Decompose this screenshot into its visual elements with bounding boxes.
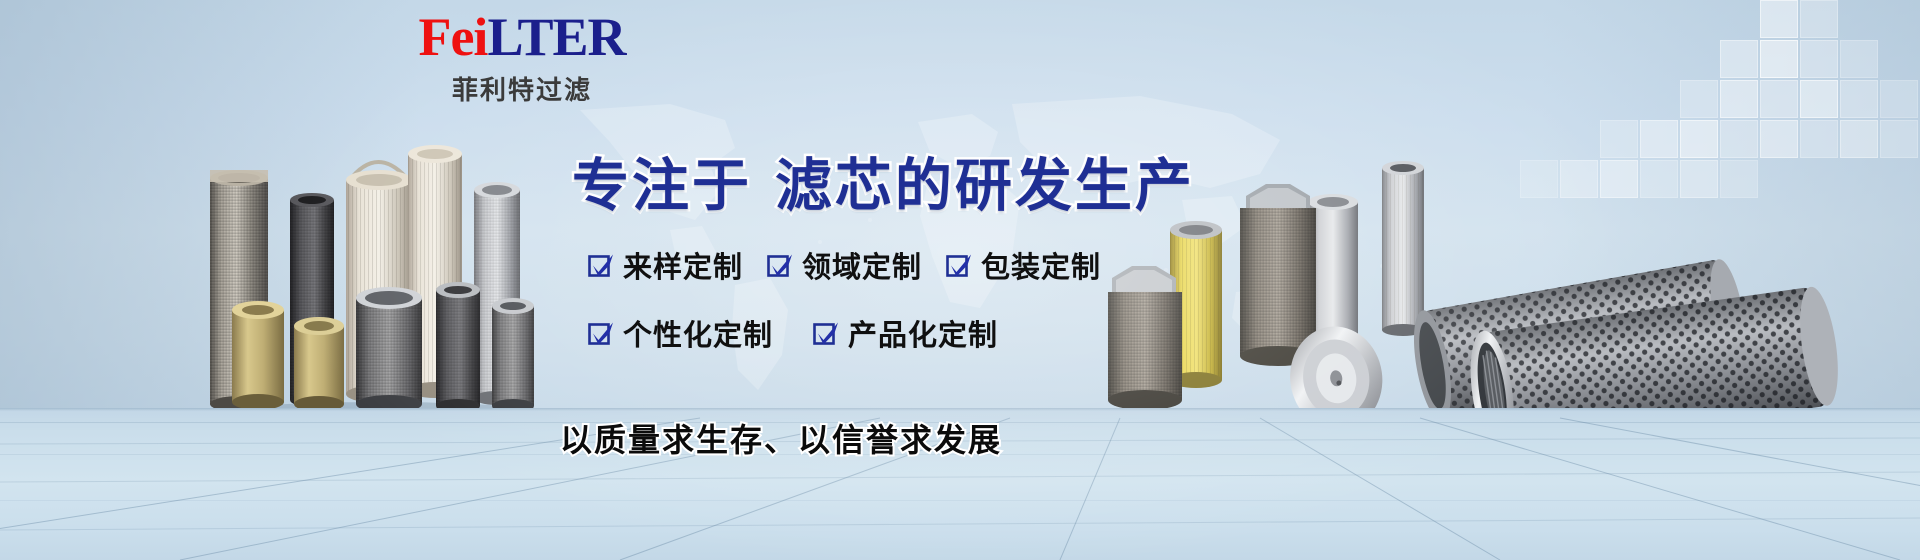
feature-label: 包装定制 xyxy=(981,244,1101,286)
feature-item[interactable]: 领域定制 xyxy=(767,244,922,286)
feature-list: 来样定制 领域定制 包装定制 xyxy=(588,244,1228,380)
feature-row-1: 来样定制 领域定制 包装定制 xyxy=(588,244,1228,286)
logo-word-blue: LTER xyxy=(487,7,625,67)
logo-wordmark: FeiLTER xyxy=(392,8,652,66)
checkbox-checked-icon xyxy=(588,320,614,346)
promo-banner: FeiLTER 菲利特过滤 专注于 滤芯的研发生产 来样定制 xyxy=(0,0,1920,560)
brand-logo[interactable]: FeiLTER 菲利特过滤 xyxy=(392,8,652,107)
feature-label: 产品化定制 xyxy=(848,312,998,354)
checkbox-checked-icon xyxy=(946,252,972,278)
feature-label: 来样定制 xyxy=(623,244,743,286)
checkbox-checked-icon xyxy=(767,252,793,278)
headline-text: 专注于 滤芯的研发生产 xyxy=(572,140,1195,222)
feature-label: 个性化定制 xyxy=(623,312,773,354)
feature-item[interactable]: 个性化定制 xyxy=(588,312,773,354)
tagline-text: 以质量求生存、以信誉求发展 xyxy=(560,415,1002,461)
feature-item[interactable]: 产品化定制 xyxy=(813,312,998,354)
checkbox-checked-icon xyxy=(813,320,839,346)
checkbox-checked-icon xyxy=(588,252,614,278)
feature-row-2: 个性化定制 产品化定制 xyxy=(588,312,1228,354)
logo-subtitle: 菲利特过滤 xyxy=(392,70,652,107)
logo-word-red: Fei xyxy=(418,7,487,67)
feature-label: 领域定制 xyxy=(802,244,922,286)
feature-item[interactable]: 来样定制 xyxy=(588,244,743,286)
feature-item[interactable]: 包装定制 xyxy=(946,244,1101,286)
